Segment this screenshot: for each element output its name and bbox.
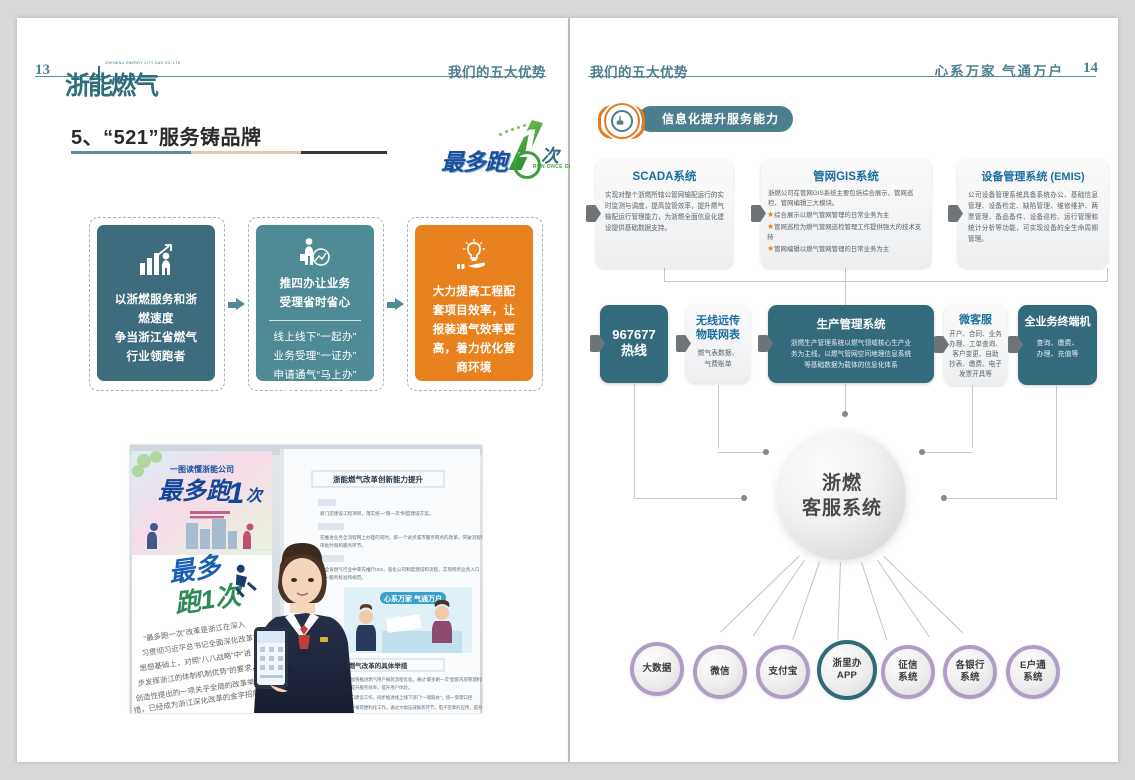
svg-text:次: 次	[246, 487, 264, 505]
left-page-number: 13	[35, 62, 50, 79]
connector-top-bus	[664, 281, 1108, 282]
svg-text:1: 1	[228, 477, 245, 510]
connector-gis-drop	[845, 268, 846, 282]
channel-ehutong-label-1: E户通	[1020, 660, 1046, 672]
connector-hotline-down	[634, 383, 635, 498]
service-person-icon	[256, 237, 374, 267]
production-title: 生产管理系统	[768, 316, 934, 332]
connector-terminal-in	[944, 498, 1056, 499]
channel-alipay-label: 支付宝	[768, 666, 797, 678]
production-tab-icon	[758, 335, 773, 352]
wechat-service-title: 微客服	[944, 311, 1007, 327]
channel-bank-label-2: 系统	[960, 672, 979, 684]
channel-credit-label-2: 系统	[898, 672, 917, 684]
left-page-header: 13 浙能燃气 ZHENENG ENERGY CITY GAS CO. LTD …	[17, 44, 568, 78]
hotline-label: 热线	[600, 342, 668, 360]
card-3-line-1: 大力提高工程配	[415, 283, 533, 302]
brand-main-text: 最多跑	[441, 143, 507, 177]
title-underline-teal	[71, 151, 191, 154]
connector-wechat-in	[922, 452, 972, 453]
run-once-brand-logo: 1 最多跑 次 RUN ONCE ONLY	[441, 118, 569, 178]
channel-bank[interactable]: 各银行 系统	[943, 645, 997, 699]
right-page-header: 我们的五大优势 心系万家 气通万户 14	[570, 44, 1118, 78]
card-3[interactable]: 大力提高工程配 套项目效率，让 报装通气效率更 高，着力优化营 商环境	[415, 225, 533, 381]
lightbulb-hand-icon	[415, 239, 533, 273]
channel-ehutong-label-2: 系统	[1023, 672, 1042, 684]
terminal-body-1: 查询、缴费、	[1018, 338, 1097, 349]
channel-zlb-label-2: APP	[837, 670, 857, 682]
node-right-low	[941, 495, 947, 501]
card-2-title-1: 推四办让业务	[256, 275, 374, 294]
connector-terminal-down	[1056, 385, 1057, 500]
connector-emis-drop	[1107, 268, 1108, 282]
wechat-service-card[interactable]: 微客服 开户、合同、业务 办理、工单查询、 客户变更、自助 抄表、缴费、电子 发…	[944, 305, 1007, 385]
svg-text:燃气改革的具体举措: 燃气改革的具体举措	[349, 661, 408, 670]
wechat-body-5: 发票开具等	[944, 370, 1007, 380]
channel-ehutong[interactable]: E户通 系统	[1006, 645, 1060, 699]
gis-tab-icon	[751, 205, 766, 222]
card-3-line-2: 套项目效率，让	[415, 302, 533, 321]
arrow-2-icon	[387, 298, 404, 311]
channel-zhelibanapp[interactable]: 浙里办 APP	[817, 640, 877, 700]
terminal-title: 全业务终端机	[1018, 313, 1097, 329]
wechat-body-1: 开户、合同、业务	[944, 330, 1007, 340]
gis-title: 管网GIS系统	[761, 168, 931, 184]
growth-chart-person-icon	[97, 243, 215, 277]
channel-credit-label-1: 征信	[898, 660, 917, 672]
gis-bullet-2: ★管网巡检为燃气管网巡检管理工作提供强大的技术支持	[767, 222, 925, 244]
svg-text:统一服务标准和规范。: 统一服务标准和规范。	[320, 574, 366, 581]
card-3-line-5: 商环境	[415, 359, 533, 378]
card-1-line-3: 争当浙江省燃气	[97, 329, 215, 348]
connector-production-down	[845, 383, 846, 411]
emis-tab-icon	[948, 205, 963, 222]
node-production	[842, 411, 848, 417]
production-body-3: 等基础数据为载体的信息化体系	[776, 360, 926, 371]
connector-iot-in	[718, 452, 766, 453]
production-body-1: 浙燃生产管理系统以燃气领域核心生产业	[776, 338, 926, 349]
production-card[interactable]: 生产管理系统 浙燃生产管理系统以燃气领域核心生产业 务为主线，以燃气管网空间地理…	[768, 305, 934, 383]
card-3-line-3: 报装通气效率更	[415, 321, 533, 340]
scada-card[interactable]: SCADA系统 实现对整个浙燃所辖公管网输配运行的实时监测与调度，提高监管效率，…	[596, 159, 733, 268]
title-underline-dark	[301, 151, 387, 154]
arrow-1-icon	[228, 298, 245, 311]
card-3-line-4: 高，着力优化营	[415, 340, 533, 359]
svg-text:在推进业务全流程网上办理的同时，第一个试点城市服务网点的改革: 在推进业务全流程网上办理的同时，第一个试点城市服务网点的改革，突破流程壁垒的压缩	[320, 534, 482, 541]
svg-text:新门店建设工程项目，落实统一“跑一次”制度建设方案。: 新门店建设工程项目，落实统一“跑一次”制度建设方案。	[320, 510, 433, 517]
info-touch-icon	[604, 103, 640, 139]
svg-text:心系万家 气通万户: 心系万家 气通万户	[384, 594, 442, 603]
card-1-line-1: 以浙燃服务和浙	[97, 291, 215, 310]
section-tag-label: 信息化提升服务能力	[638, 106, 793, 132]
channel-bigdata-label: 大数据	[642, 663, 671, 675]
connector-iot-down	[718, 385, 719, 448]
connector-bus-to-production	[845, 281, 846, 305]
svg-text:最多跑: 最多跑	[158, 478, 233, 505]
hub-line-1: 浙燃	[822, 471, 862, 496]
card-2-divider	[269, 320, 361, 321]
gis-bullet-1: ★综合展示以燃气管网管理的日常业务为主	[767, 210, 925, 222]
right-header-left-text: 我们的五大优势	[590, 61, 688, 81]
hotline-card[interactable]: 967677 热线	[600, 305, 668, 383]
card-1-line-4: 行业领跑者	[97, 348, 215, 367]
card-2-body-1: 线上线下“一起办”	[256, 328, 374, 347]
connector-scada-drop	[664, 268, 665, 282]
logo-cn-text: 浙能燃气	[65, 66, 157, 102]
wechat-body-3: 客户变更、自助	[944, 350, 1007, 360]
svg-text:审批时限和服务环节。: 审批时限和服务环节。	[320, 542, 366, 549]
wechat-body-2: 办理、工单查询、	[944, 340, 1007, 350]
company-logo: 浙能燃气 ZHENENG ENERGY CITY GAS CO. LTD	[65, 60, 161, 96]
emis-body: 公司设备管理系统具备系统办公、基础信息管理、设备检定、缺陷管理、维修维护、两票管…	[968, 190, 1098, 245]
hotline-number: 967677	[600, 327, 668, 342]
iot-meter-card[interactable]: 无线远传 物联网表 燃气表数据、 气费账单	[686, 305, 750, 383]
connector-hotline-in	[634, 498, 744, 499]
channel-bank-label-1: 各银行	[955, 660, 984, 672]
emis-card[interactable]: 设备管理系统 (EMIS) 公司设备管理系统具备系统办公、基础信息管理、设备检定…	[958, 159, 1108, 268]
emis-title: 设备管理系统 (EMIS)	[958, 168, 1108, 184]
channel-credit[interactable]: 征信 系统	[881, 645, 935, 699]
svg-text:浙能燃气改革创新能力提升: 浙能燃气改革创新能力提升	[333, 474, 423, 484]
scada-body: 实现对整个浙燃所辖公管网输配运行的实时监测与调度，提高监管效率，提升燃气输配运行…	[605, 190, 724, 234]
logo-en-text: ZHENENG ENERGY CITY GAS CO. LTD	[105, 61, 181, 66]
iot-body-1: 燃气表数据、	[686, 348, 750, 359]
svg-text:在全省燃气行业中率先推行ISO，强化公司制度建设和流程，实现: 在全省燃气行业中率先推行ISO，强化公司制度建设和流程，实现网点业务入口	[320, 566, 480, 573]
title-underline-gold	[191, 151, 301, 154]
connector-wechat-down	[972, 385, 973, 448]
gis-card[interactable]: 管网GIS系统 浙燃公司在管网GIS系统主要包括综合展示、管网巡检、管网编辑三大…	[761, 159, 931, 268]
scada-title: SCADA系统	[596, 168, 733, 184]
terminal-body-2: 办理、充值等	[1018, 349, 1097, 360]
terminal-card[interactable]: 全业务终端机 查询、缴费、 办理、充值等	[1018, 305, 1097, 385]
left-page: 13 浙能燃气 ZHENENG ENERGY CITY GAS CO. LTD …	[17, 18, 568, 762]
right-page-number: 14	[1083, 60, 1098, 77]
card-1-line-2: 燃速度	[97, 310, 215, 329]
iot-title-1: 无线远传	[686, 314, 750, 328]
exhibition-photo: 一图读懂浙能公司 最多跑 1 次 最多 跑1次	[130, 445, 482, 713]
hub-line-2: 客服系统	[802, 496, 882, 521]
gis-bullet-3: ★管网编辑以燃气管网管理的日常业务为主	[767, 244, 925, 256]
wechat-body-4: 抄表、缴费、电子	[944, 360, 1007, 370]
right-header-right-text: 心系万家 气通万户	[935, 60, 1064, 80]
channel-zlb-label-1: 浙里办	[832, 658, 861, 670]
card-2[interactable]: 推四办让业务 受理省时省心 线上线下“一起办” 业务受理“一证办” 申请通气“马…	[256, 225, 374, 381]
channel-bigdata[interactable]: 大数据	[630, 642, 684, 696]
node-left-mid	[763, 449, 769, 455]
node-right-mid	[919, 449, 925, 455]
iot-title-2: 物联网表	[686, 328, 750, 342]
hub-circle[interactable]: 浙燃 客服系统	[778, 432, 906, 560]
card-2-title-2: 受理省时省心	[256, 294, 374, 313]
card-1[interactable]: 以浙燃服务和浙 燃速度 争当浙江省燃气 行业领跑者	[97, 225, 215, 381]
card-2-body-3: 申请通气“马上办”	[256, 366, 374, 385]
card-2-body-4: 服务上门“现场办”	[256, 385, 374, 404]
left-header-right-text: 我们的五大优势	[448, 61, 546, 81]
card-2-body-2: 业务受理“一证办”	[256, 347, 374, 366]
left-page-title: 5、“521”服务铸品牌	[71, 121, 262, 150]
svg-text:一图读懂浙能公司: 一图读懂浙能公司	[170, 464, 234, 474]
scada-tab-icon	[586, 205, 601, 222]
gis-body: 浙燃公司在管网GIS系统主要包括综合展示、管网巡检、管网编辑三大模块。	[768, 189, 924, 209]
production-body-2: 务为主线，以燃气管网空间地理信息系统	[776, 349, 926, 360]
iot-body-2: 气费账单	[686, 359, 750, 370]
channel-wechat[interactable]: 微信	[693, 645, 747, 699]
channel-wechat-label: 微信	[710, 666, 729, 678]
channel-alipay[interactable]: 支付宝	[756, 645, 810, 699]
node-left-low	[741, 495, 747, 501]
slide-pair-canvas: 13 浙能燃气 ZHENENG ENERGY CITY GAS CO. LTD …	[0, 0, 1135, 780]
